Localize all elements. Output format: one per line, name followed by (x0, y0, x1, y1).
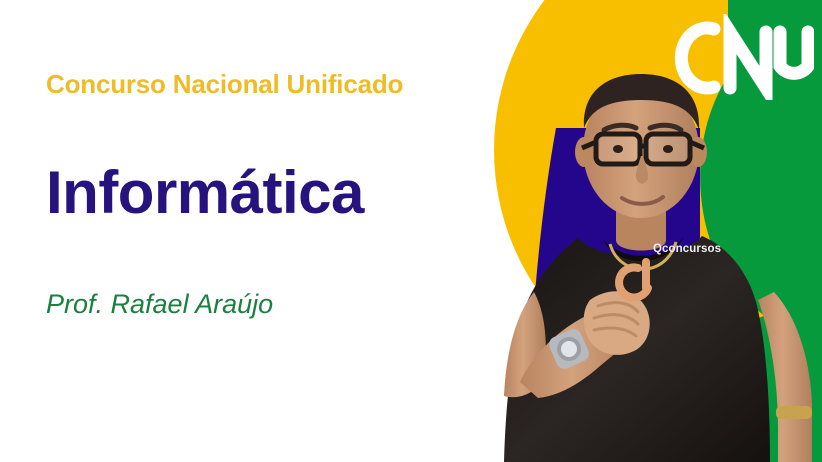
presenter-name: Prof. Rafael Araújo (46, 224, 486, 320)
slide-canvas: Qconcursos Concurso Nacional Unificado I… (0, 0, 822, 462)
subject-title: Informática (46, 99, 486, 224)
presenter-photo (470, 0, 822, 462)
bracelet (776, 406, 812, 419)
qconcursos-wordmark: Qconcursos (653, 243, 721, 255)
right-eye (663, 145, 673, 153)
presenter-photo-svg (470, 0, 822, 462)
fist (584, 291, 650, 355)
slide-text-block: Concurso Nacional Unificado Informática … (46, 70, 486, 319)
left-ear (575, 137, 593, 167)
left-eye (613, 145, 623, 153)
exam-name-label: Concurso Nacional Unificado (46, 70, 486, 99)
